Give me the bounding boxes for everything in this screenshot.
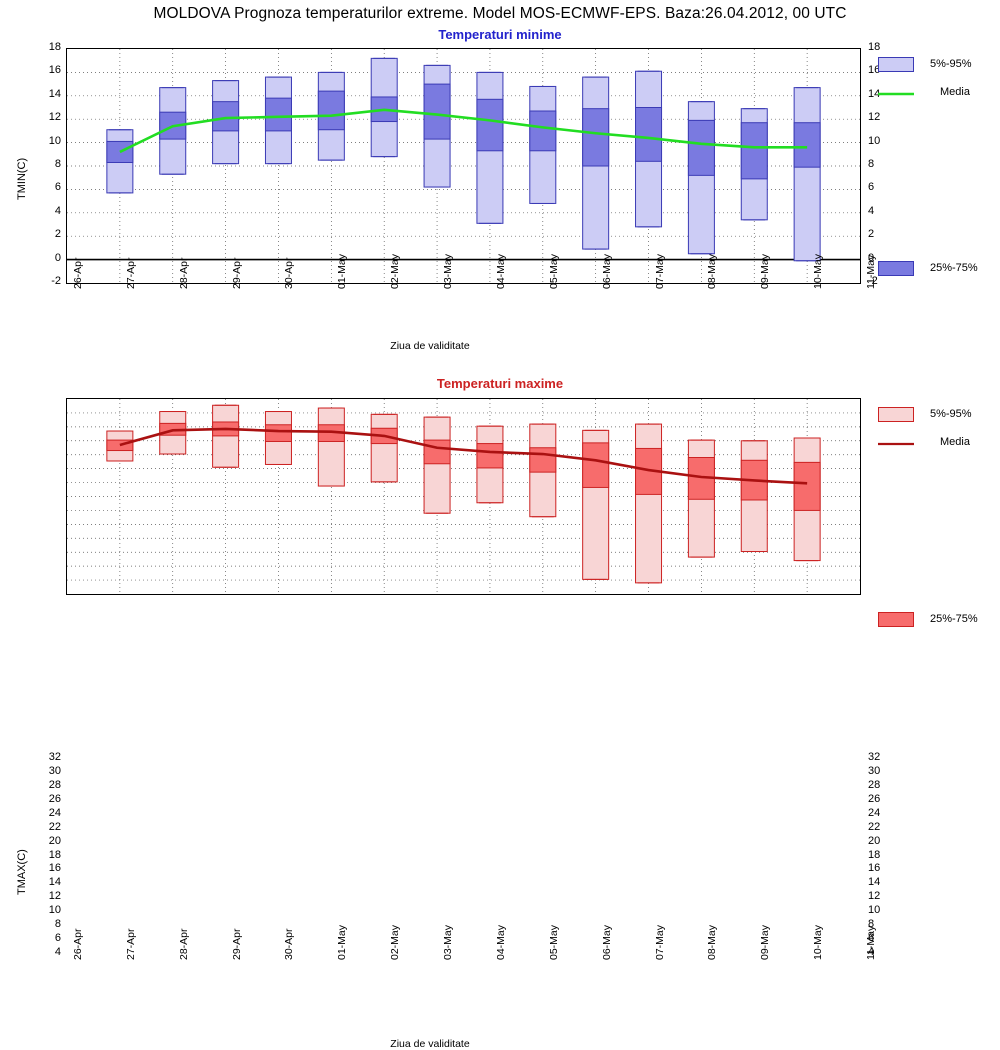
y-tick-label: 32 xyxy=(31,751,61,763)
y-tick-label: 4 xyxy=(31,205,61,217)
y-tick-label: 18 xyxy=(31,41,61,53)
y-tick-label: 16 xyxy=(31,64,61,76)
y-tick-label: 0 xyxy=(31,252,61,264)
x-tick-label: 30-Apr xyxy=(283,928,295,960)
y-tick-label: 28 xyxy=(868,779,898,791)
axis-label-tmax-y: TMAX(C) xyxy=(16,849,28,895)
y-tick-label: 22 xyxy=(868,821,898,833)
x-tick-label: 04-May xyxy=(495,925,507,960)
y-tick-label: 20 xyxy=(31,835,61,847)
y-tick-label: 30 xyxy=(31,765,61,777)
x-tick-label: 29-Apr xyxy=(231,928,243,960)
y-tick-label: 14 xyxy=(868,876,898,888)
legend-label-5-95-tmin: 5%-95% xyxy=(930,58,972,70)
x-tick-label: 10-May xyxy=(812,254,824,289)
x-tick-label: 06-May xyxy=(601,925,613,960)
y-tick-label: 26 xyxy=(868,793,898,805)
legend-label-media-tmax: Media xyxy=(940,436,970,448)
x-tick-label: 28-Apr xyxy=(178,257,190,289)
legend-label-5-95-tmax: 5%-95% xyxy=(930,408,972,420)
panel-title-tmin: Temperaturi minime xyxy=(0,27,1000,42)
legend-swatch-5-95-tmax xyxy=(878,407,914,422)
y-tick-label: 6 xyxy=(31,181,61,193)
x-tick-label: 11-May xyxy=(865,255,877,289)
plot-area-tmin xyxy=(66,48,861,284)
legend-line-media-tmin xyxy=(878,88,918,100)
x-tick-label: 07-May xyxy=(654,925,666,960)
axis-label-tmin-x: Ziua de validitate xyxy=(330,340,530,352)
axis-label-tmax-x: Ziua de validitate xyxy=(330,1038,530,1050)
x-tick-label: 26-Apr xyxy=(72,257,84,289)
y-tick-label: 6 xyxy=(31,932,61,944)
x-tick-label: 01-May xyxy=(336,925,348,960)
y-tick-label: 10 xyxy=(868,904,898,916)
x-tick-label: 27-Apr xyxy=(125,257,137,289)
x-tick-label: 10-May xyxy=(812,925,824,960)
y-tick-label: 30 xyxy=(868,765,898,777)
x-tick-label: 07-May xyxy=(654,254,666,289)
y-tick-label: 14 xyxy=(31,88,61,100)
y-tick-label: 14 xyxy=(31,876,61,888)
panel-tmin: Temperaturi minime TMIN(C) Ziua de valid… xyxy=(0,0,1000,360)
y-tick-label: 6 xyxy=(868,181,898,193)
y-tick-label: 8 xyxy=(868,158,898,170)
y-tick-label: 22 xyxy=(31,821,61,833)
legend-swatch-25-75-tmin xyxy=(878,261,914,276)
legend-label-media-tmin: Media xyxy=(940,86,970,98)
y-tick-label: 4 xyxy=(868,205,898,217)
y-tick-label: 16 xyxy=(31,862,61,874)
y-tick-label: 2 xyxy=(868,228,898,240)
x-tick-label: 27-Apr xyxy=(125,928,137,960)
y-tick-label: 12 xyxy=(31,890,61,902)
y-tick-label: 10 xyxy=(868,135,898,147)
x-tick-label: 11-May xyxy=(865,926,877,960)
legend-label-25-75-tmin: 25%-75% xyxy=(930,262,978,274)
y-tick-label: 16 xyxy=(868,862,898,874)
y-tick-label: 26 xyxy=(31,793,61,805)
x-tick-label: 05-May xyxy=(548,254,560,289)
x-tick-label: 29-Apr xyxy=(231,257,243,289)
x-tick-label: 08-May xyxy=(706,254,718,289)
x-tick-label: 02-May xyxy=(389,925,401,960)
x-tick-label: 03-May xyxy=(442,254,454,289)
x-tick-label: 30-Apr xyxy=(283,257,295,289)
x-tick-label: 01-May xyxy=(336,254,348,289)
x-tick-label: 02-May xyxy=(389,254,401,289)
y-tick-label: 2 xyxy=(31,228,61,240)
y-tick-label: 18 xyxy=(868,41,898,53)
y-tick-label: 28 xyxy=(31,779,61,791)
x-tick-label: 06-May xyxy=(601,254,613,289)
x-tick-label: 04-May xyxy=(495,254,507,289)
x-tick-label: 09-May xyxy=(759,925,771,960)
x-tick-label: 26-Apr xyxy=(72,928,84,960)
legend-swatch-5-95-tmin xyxy=(878,57,914,72)
y-tick-label: 12 xyxy=(868,890,898,902)
y-tick-label: 20 xyxy=(868,835,898,847)
y-tick-label: 24 xyxy=(31,807,61,819)
y-tick-label: 24 xyxy=(868,807,898,819)
panel-title-tmax: Temperaturi maxime xyxy=(0,376,1000,391)
x-tick-label: 28-Apr xyxy=(178,928,190,960)
y-tick-label: 10 xyxy=(31,135,61,147)
x-tick-label: 03-May xyxy=(442,925,454,960)
y-tick-label: 12 xyxy=(868,111,898,123)
y-tick-label: 32 xyxy=(868,751,898,763)
y-tick-label: 12 xyxy=(31,111,61,123)
x-tick-label: 08-May xyxy=(706,925,718,960)
y-tick-label: 4 xyxy=(31,946,61,958)
y-tick-label: 18 xyxy=(868,849,898,861)
axis-label-tmin-y: TMIN(C) xyxy=(16,158,28,200)
x-tick-label: 05-May xyxy=(548,925,560,960)
x-tick-label: 09-May xyxy=(759,254,771,289)
legend-label-25-75-tmax: 25%-75% xyxy=(930,613,978,625)
y-tick-label: 8 xyxy=(31,918,61,930)
y-tick-label: -2 xyxy=(31,275,61,287)
y-tick-label: 18 xyxy=(31,849,61,861)
legend-swatch-25-75-tmax xyxy=(878,612,914,627)
panel-tmax: Temperaturi maxime TMAX(C) Ziua de valid… xyxy=(0,360,1000,700)
y-tick-label: 10 xyxy=(31,904,61,916)
legend-line-media-tmax xyxy=(878,438,918,450)
plot-area-tmax xyxy=(66,398,861,595)
y-tick-label: 8 xyxy=(31,158,61,170)
